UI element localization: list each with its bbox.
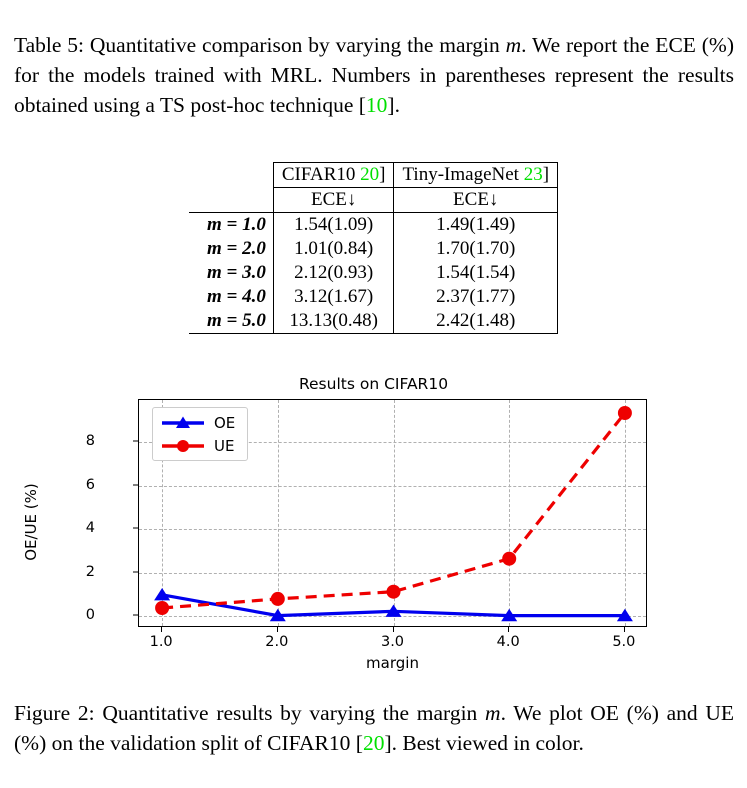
chart-x-axis-label: margin [138,654,647,672]
table-header-tiny-imagenet: Tiny-ImageNet 23] [394,163,558,188]
data-point-ue-3.0[interactable] [387,585,401,599]
results-table: CIFAR10 20] Tiny-ImageNet 23] ECE↓ ECE↓ … [189,162,558,334]
x-tick-label: 5.0 [612,634,635,650]
cell-tiny-imagenet-m-2: 1.70(1.70) [394,237,558,261]
results-table-container: CIFAR10 20] Tiny-ImageNet 23] ECE↓ ECE↓ … [0,162,747,334]
table-header-metric-cifar10: ECE↓ [273,188,394,213]
data-point-ue-1.0[interactable] [155,601,169,615]
cell-cifar10-m-5: 13.13(0.48) [273,309,394,334]
table-caption: Table 5: Quantitative comparison by vary… [14,30,734,120]
x-tick-label: 2.0 [265,634,288,650]
citation-link-20-figure[interactable]: 20 [363,731,385,755]
x-tick-label: 3.0 [381,634,404,650]
legend-label-ue: UE [214,437,234,455]
table-row: m = 1.0 1.54(1.09) 1.49(1.49) [189,213,558,238]
table-caption-math-m: m [506,33,522,57]
figure-caption-text-1: Quantitative results by varying the marg… [102,701,485,725]
header-dataset-name-tiny-imagenet: Tiny-ImageNet [402,164,518,185]
row-label-m-5: m = 5.0 [189,309,273,334]
legend-swatch-oe-icon [161,415,205,431]
figure-caption: Figure 2: Quantitative results by varyin… [14,698,734,758]
table-body: m = 1.0 1.54(1.09) 1.49(1.49) m = 2.0 1.… [189,213,558,334]
citation-link-23[interactable]: 23 [524,164,543,185]
cell-cifar10-m-1: 1.54(1.09) [273,213,394,238]
table-corner-cell-2 [189,188,273,213]
cell-tiny-imagenet-m-4: 2.37(1.77) [394,285,558,309]
cell-cifar10-m-4: 3.12(1.67) [273,285,394,309]
table-row: m = 5.0 13.13(0.48) 2.42(1.48) [189,309,558,334]
table-caption-label: Table 5: [14,33,84,57]
cell-tiny-imagenet-m-5: 2.42(1.48) [394,309,558,334]
citation-link-20[interactable]: 20 [360,164,379,185]
table-header-cifar10: CIFAR10 20] [273,163,394,188]
y-tick-label: 2 [75,564,95,580]
cell-tiny-imagenet-m-3: 1.54(1.54) [394,261,558,285]
data-point-ue-2.0[interactable] [271,592,285,606]
table-header-row-metrics: ECE↓ ECE↓ [189,188,558,213]
table-header-metric-tiny-imagenet: ECE↓ [394,188,558,213]
table-caption-text-3: ]. [387,93,400,117]
cell-cifar10-m-3: 2.12(0.93) [273,261,394,285]
data-point-ue-5.0[interactable] [618,406,632,420]
cell-tiny-imagenet-m-1: 1.49(1.49) [394,213,558,238]
legend-swatch-ue-icon [161,438,205,454]
x-tick-label: 1.0 [150,634,173,650]
y-tick-label: 4 [75,520,95,536]
row-label-m-2: m = 2.0 [189,237,273,261]
chart-y-axis-label: OE/UE (%) [22,483,40,561]
header-dataset-name-cifar10: CIFAR10 [282,164,356,185]
figure-caption-text-3: ]. Best viewed in color. [384,731,583,755]
chart-legend: OEUE [152,407,248,461]
row-label-m-3: m = 3.0 [189,261,273,285]
cell-cifar10-m-2: 1.01(0.84) [273,237,394,261]
row-label-m-1: m = 1.0 [189,213,273,238]
table-header-row-datasets: CIFAR10 20] Tiny-ImageNet 23] [189,163,558,188]
y-tick-label: 8 [75,433,95,449]
data-point-ue-4.0[interactable] [502,552,516,566]
table-row: m = 3.0 2.12(0.93) 1.54(1.54) [189,261,558,285]
legend-item-oe[interactable]: OE [161,414,235,431]
y-tick-label: 0 [75,607,95,623]
figure-caption-label: Figure 2: [14,701,95,725]
row-label-m-4: m = 4.0 [189,285,273,309]
figure-caption-math-m: m [485,701,501,725]
x-tick-label: 4.0 [497,634,520,650]
figure-chart: Results on CIFAR10 OE/UE (%) margin 0246… [0,372,747,672]
citation-link-10[interactable]: 10 [366,93,388,117]
y-tick-label: 6 [75,477,95,493]
legend-label-oe: OE [214,414,235,432]
table-corner-cell [189,163,273,188]
legend-item-ue[interactable]: UE [161,437,235,454]
chart-title: Results on CIFAR10 [0,375,747,393]
table-row: m = 4.0 3.12(1.67) 2.37(1.77) [189,285,558,309]
table-row: m = 2.0 1.01(0.84) 1.70(1.70) [189,237,558,261]
table-caption-text-1: Quantitative comparison by varying the m… [90,33,506,57]
